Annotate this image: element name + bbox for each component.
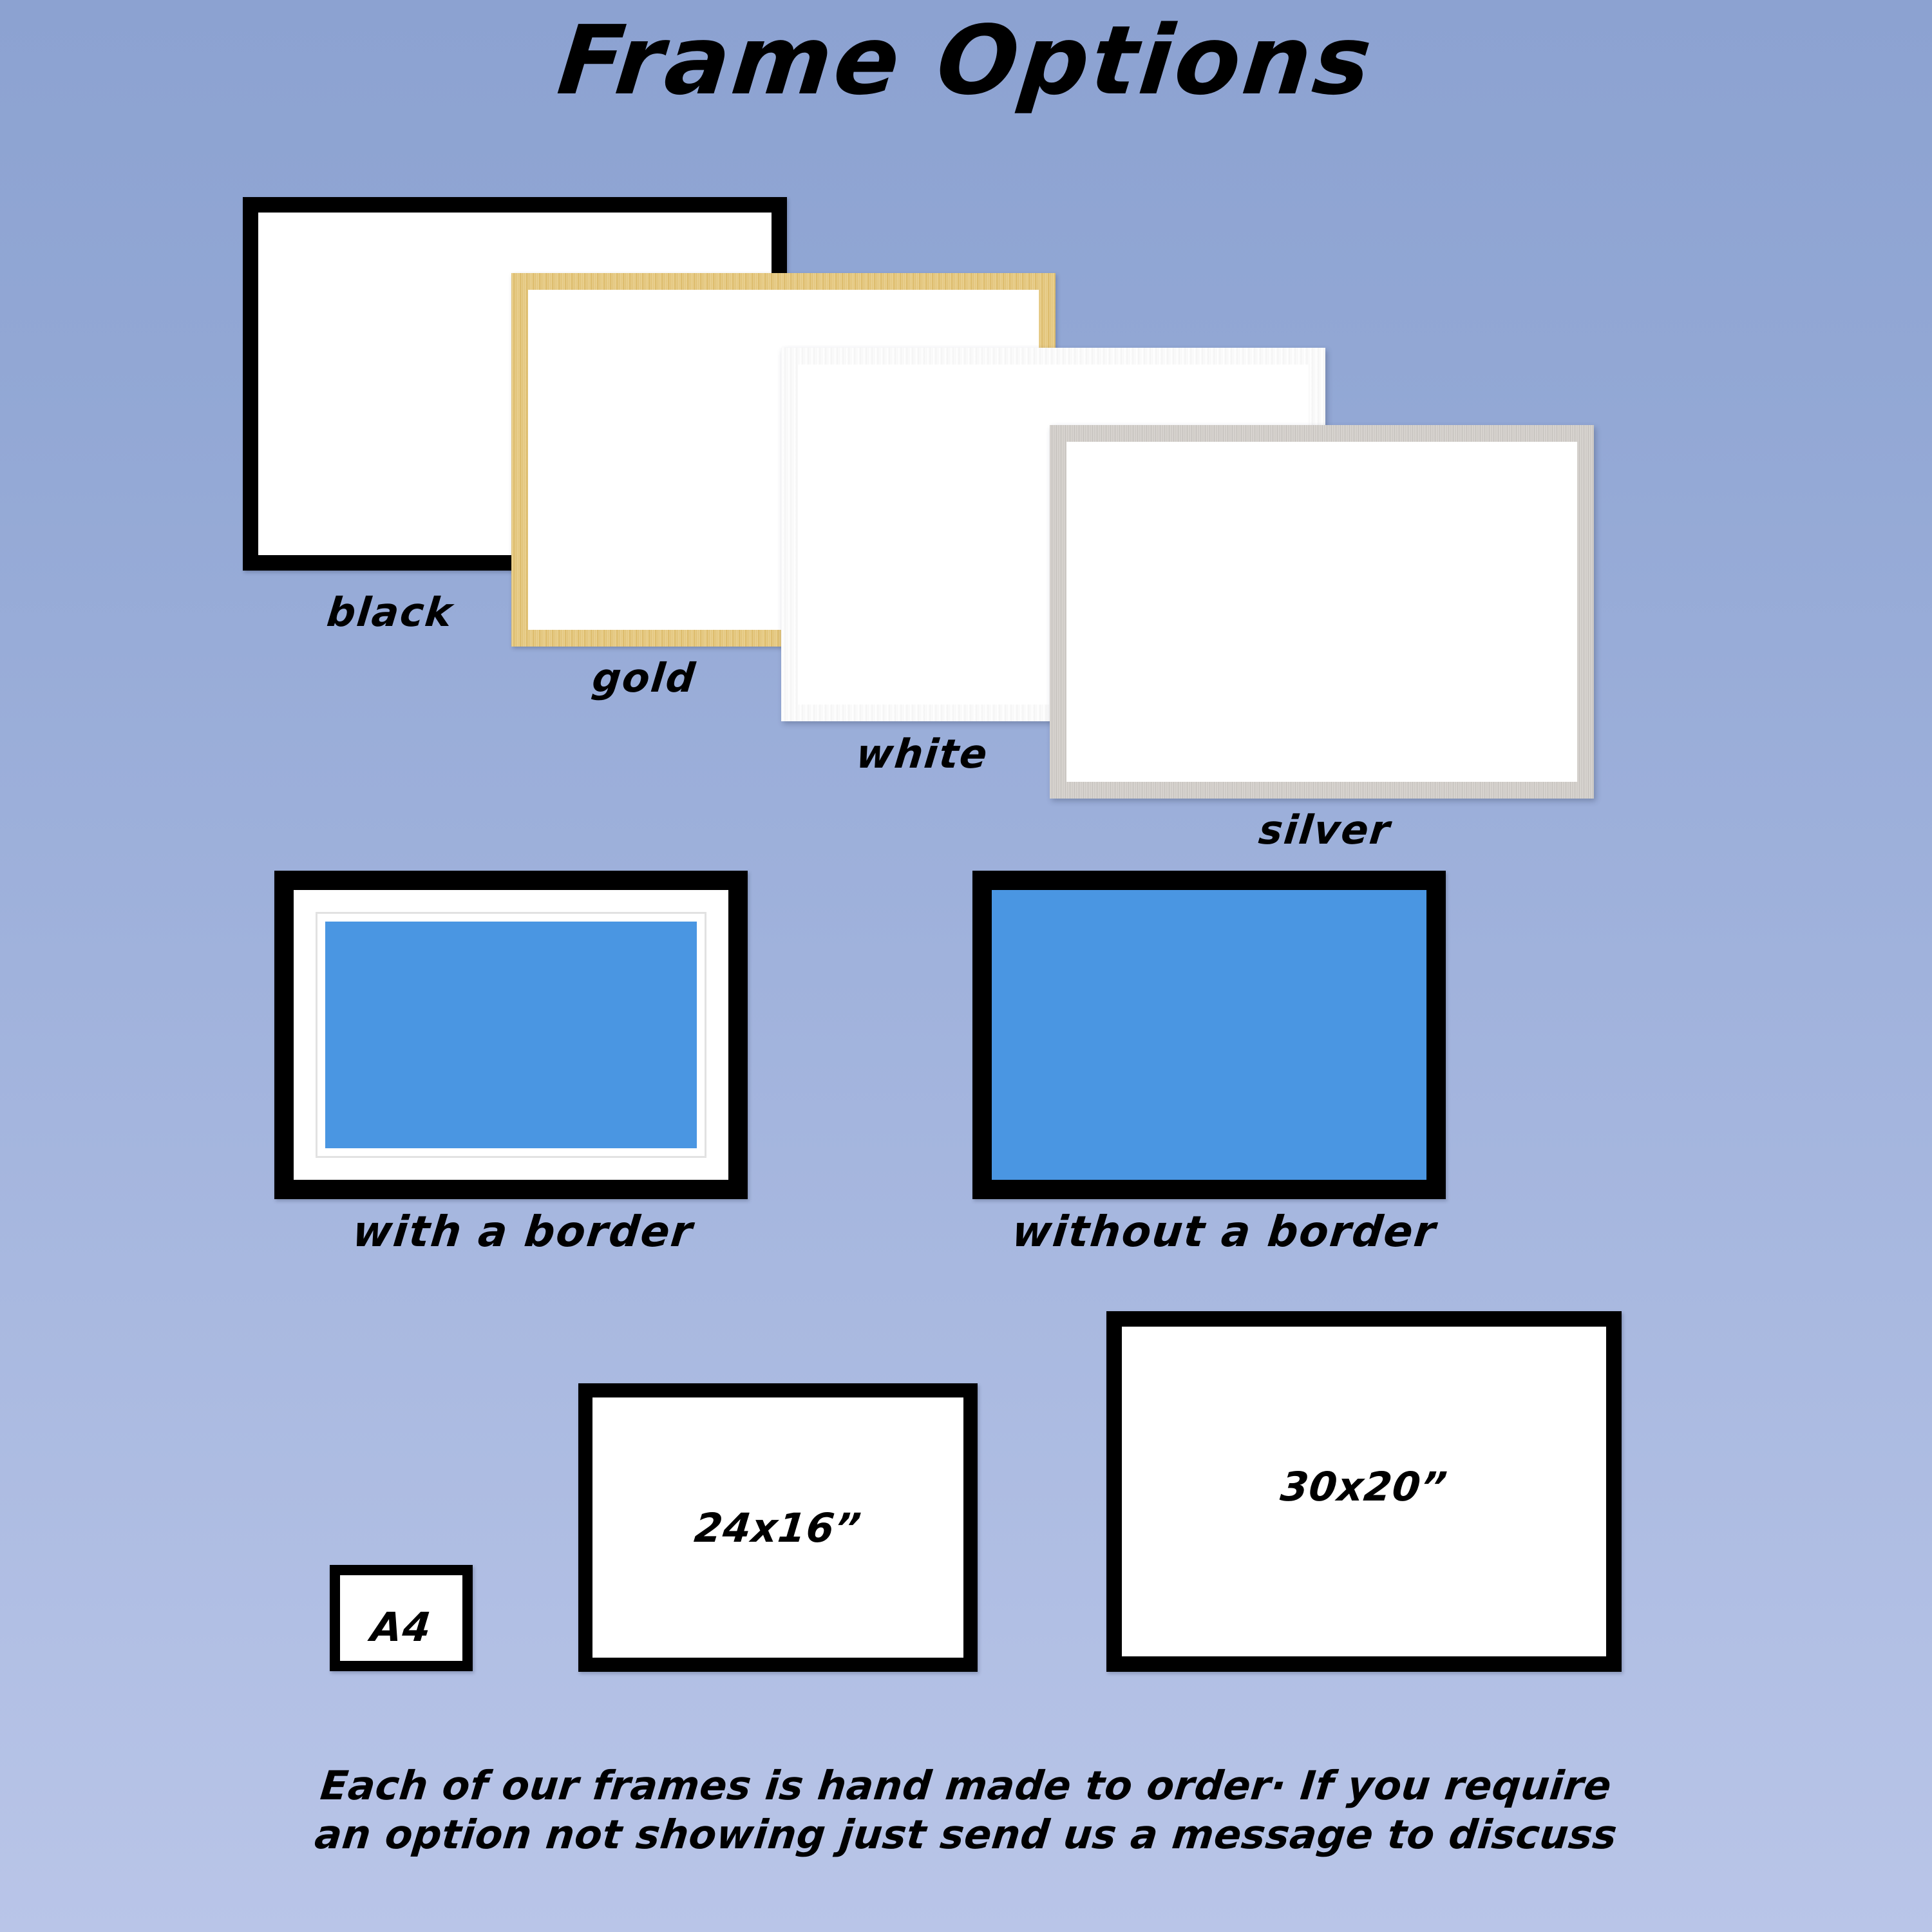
size-frame-30x20[interactable]: 30x20” bbox=[1106, 1311, 1622, 1672]
frame-label-silver: silver bbox=[1257, 810, 1393, 850]
frame-with-border[interactable] bbox=[274, 871, 748, 1199]
footer-line-1: Each of our frames is hand made to order… bbox=[0, 1761, 1932, 1810]
frame-label-white: white bbox=[855, 734, 990, 774]
frame-options-poster: Frame Options black gold white silver wi… bbox=[0, 0, 1932, 1932]
frame-swatch-silver[interactable] bbox=[1050, 425, 1594, 799]
frame-label-gold: gold bbox=[591, 658, 698, 698]
size-frame-a4[interactable]: A4 bbox=[330, 1565, 473, 1671]
mat-inner-bevel bbox=[316, 912, 706, 1158]
artwork-area bbox=[325, 922, 697, 1148]
footer-line-2: an option not showing just send us a mes… bbox=[0, 1810, 1932, 1859]
size-label-30x20: 30x20” bbox=[1120, 1467, 1609, 1507]
size-label-24x16: 24x16” bbox=[591, 1508, 966, 1548]
caption-without-border: without a border bbox=[1010, 1211, 1439, 1253]
artwork-area-full bbox=[992, 890, 1426, 1180]
size-label-a4: A4 bbox=[338, 1607, 465, 1647]
caption-with-border: with a border bbox=[351, 1211, 696, 1253]
page-title: Frame Options bbox=[0, 13, 1932, 108]
footer-note: Each of our frames is hand made to order… bbox=[0, 1761, 1932, 1859]
size-frame-24x16[interactable]: 24x16” bbox=[578, 1383, 978, 1672]
frame-without-border[interactable] bbox=[972, 871, 1446, 1199]
frame-label-black: black bbox=[325, 592, 455, 632]
mat-board bbox=[294, 890, 728, 1180]
